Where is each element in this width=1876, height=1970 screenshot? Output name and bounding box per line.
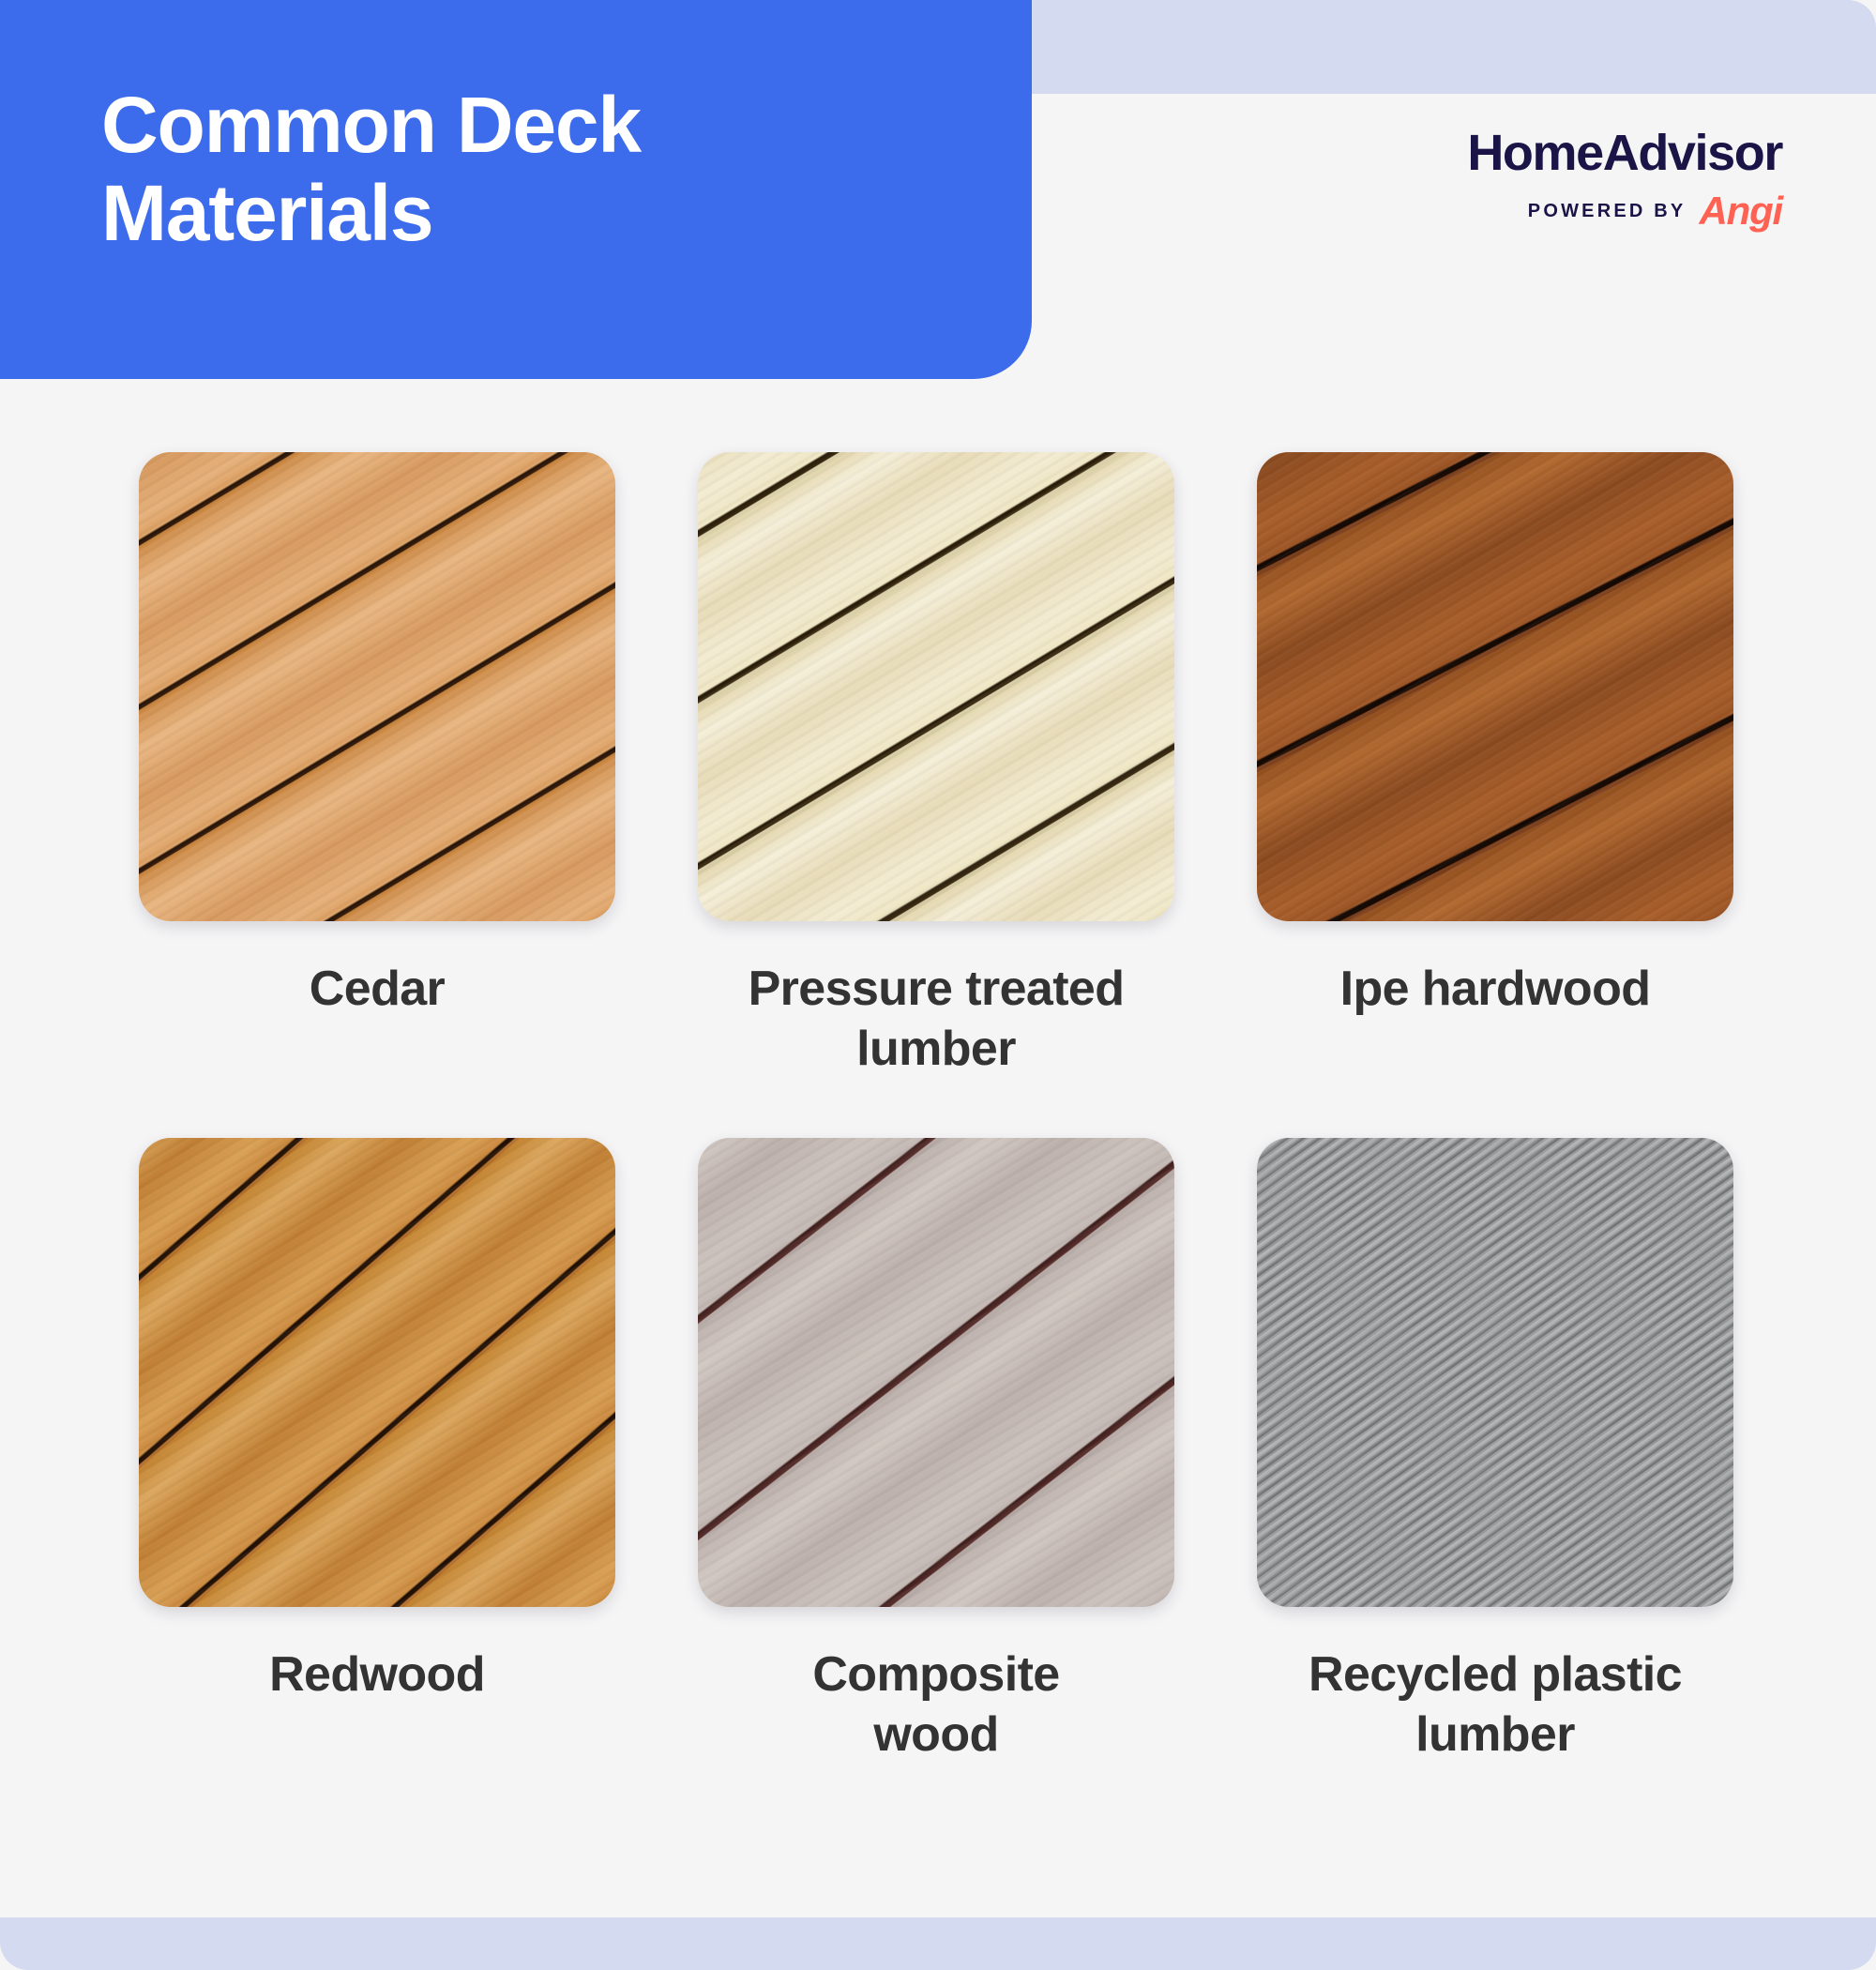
recycled-plastic-lumber-decking-swatch <box>1257 1138 1733 1607</box>
bottom-accent-band <box>0 1917 1876 1970</box>
deck-materials-infographic: Common Deck Materials HomeAdvisor POWERE… <box>0 0 1876 1970</box>
angi-brand-mark: Angi <box>1699 191 1782 231</box>
homeadvisor-logo: HomeAdvisor POWERED BY Angi <box>1445 128 1782 231</box>
logo-powered-by-label: POWERED BY <box>1528 201 1687 222</box>
material-card: Pressure treated lumber <box>698 452 1174 1080</box>
material-card: Ipe hardwood <box>1257 452 1733 1080</box>
ipe-hardwood-decking-swatch <box>1257 452 1733 921</box>
material-label: Composite wood <box>812 1644 1059 1765</box>
logo-powered-by-row: POWERED BY Angi <box>1445 191 1782 231</box>
material-label: Ipe hardwood <box>1340 959 1651 1019</box>
material-card: Redwood <box>139 1138 615 1765</box>
redwood-decking-swatch <box>139 1138 615 1607</box>
cedar-wood-decking-swatch <box>139 452 615 921</box>
material-card: Composite wood <box>698 1138 1174 1765</box>
page-title: Common Deck Materials <box>101 81 870 257</box>
material-label: Cedar <box>310 959 445 1019</box>
header-title-block: Common Deck Materials <box>0 0 1032 379</box>
material-card: Recycled plastic lumber <box>1257 1138 1733 1765</box>
material-label: Recycled plastic lumber <box>1309 1644 1682 1765</box>
pressure-treated-lumber-decking-swatch <box>698 452 1174 921</box>
material-card: Cedar <box>139 452 615 1080</box>
material-label: Pressure treated lumber <box>749 959 1125 1080</box>
logo-wordmark: HomeAdvisor <box>1445 128 1782 178</box>
composite-wood-decking-swatch <box>698 1138 1174 1607</box>
material-label: Redwood <box>269 1644 485 1705</box>
materials-grid: Cedar Pressure treated lumber Ipe hardwo… <box>139 452 1745 1765</box>
